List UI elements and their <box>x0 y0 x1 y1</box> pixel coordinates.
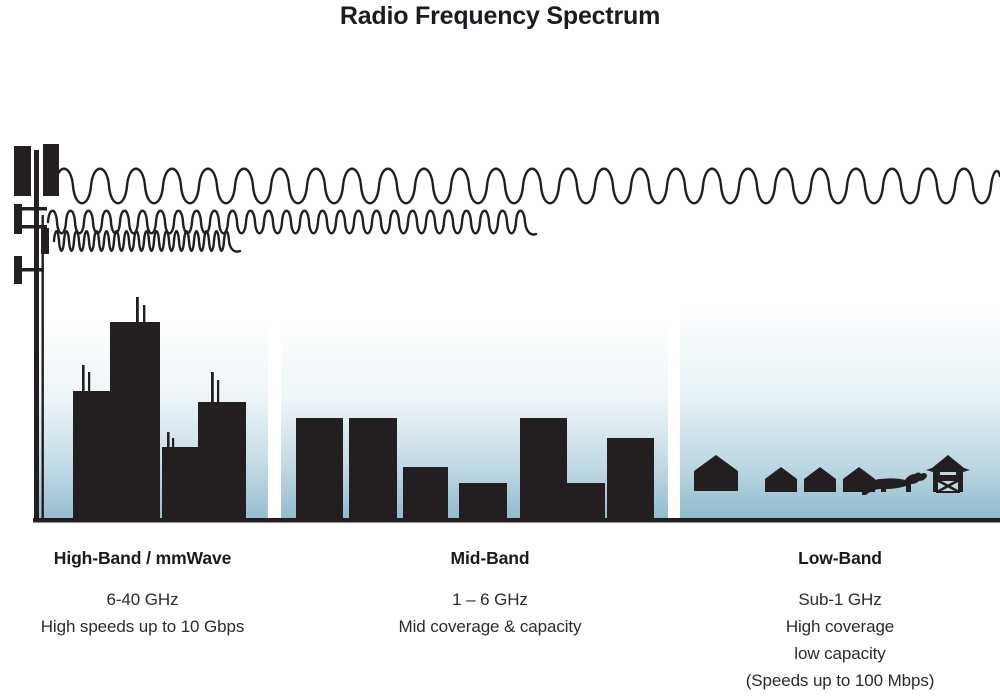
band-speed-low: (Speeds up to 100 Mbps) <box>680 667 1000 694</box>
midband-building <box>296 418 343 522</box>
antenna-crossarm-upper <box>14 207 47 211</box>
skyscraper-spire <box>211 372 214 404</box>
band-coverage-low: High coverage <box>680 613 1000 640</box>
low-band-wave <box>55 169 1000 204</box>
skyscraper-building <box>73 391 111 522</box>
antenna-crossarm-bottom <box>14 268 44 272</box>
midband-building <box>607 438 654 522</box>
midband-building <box>459 483 507 522</box>
band-frequency-low: Sub-1 GHz <box>680 586 1000 613</box>
band-speed-mid: Mid coverage & capacity <box>320 613 660 640</box>
midband-building <box>349 418 397 522</box>
skyscraper-spire <box>136 297 139 325</box>
ground-line <box>33 518 1000 523</box>
tower-mast-secondary <box>42 215 44 522</box>
band-frequency-mid: 1 – 6 GHz <box>320 586 660 613</box>
skyscraper-building <box>198 402 246 522</box>
midband-building <box>403 467 448 522</box>
skyscraper-spire <box>217 380 219 404</box>
skyscraper-building <box>110 322 160 522</box>
antenna-panel-top-left <box>14 146 31 196</box>
band-capacity-low: low capacity <box>680 640 1000 667</box>
mid-band-wave <box>48 211 536 235</box>
antenna-panel-small <box>41 228 49 254</box>
band-title-low: Low-Band <box>680 548 1000 569</box>
skyscraper-spire <box>82 365 85 395</box>
antenna-panel-top-right <box>43 144 59 196</box>
band-desc-low: Sub-1 GHz High coverage low capacity (Sp… <box>680 586 1000 694</box>
high-band-wave <box>54 231 240 251</box>
band-frequency-high: 6-40 GHz <box>0 586 285 613</box>
midband-building <box>520 418 567 522</box>
antenna-crossarm-lower <box>20 225 47 229</box>
band-desc-mid: 1 – 6 GHz Mid coverage & capacity <box>320 586 660 640</box>
band-speed-high: High speeds up to 10 Gbps <box>0 613 285 640</box>
tower-mast <box>34 150 39 522</box>
band-title-mid: Mid-Band <box>320 548 660 569</box>
band-title-high: High-Band / mmWave <box>0 548 285 569</box>
midband-building <box>565 483 605 522</box>
band-desc-high: 6-40 GHz High speeds up to 10 Gbps <box>0 586 285 640</box>
